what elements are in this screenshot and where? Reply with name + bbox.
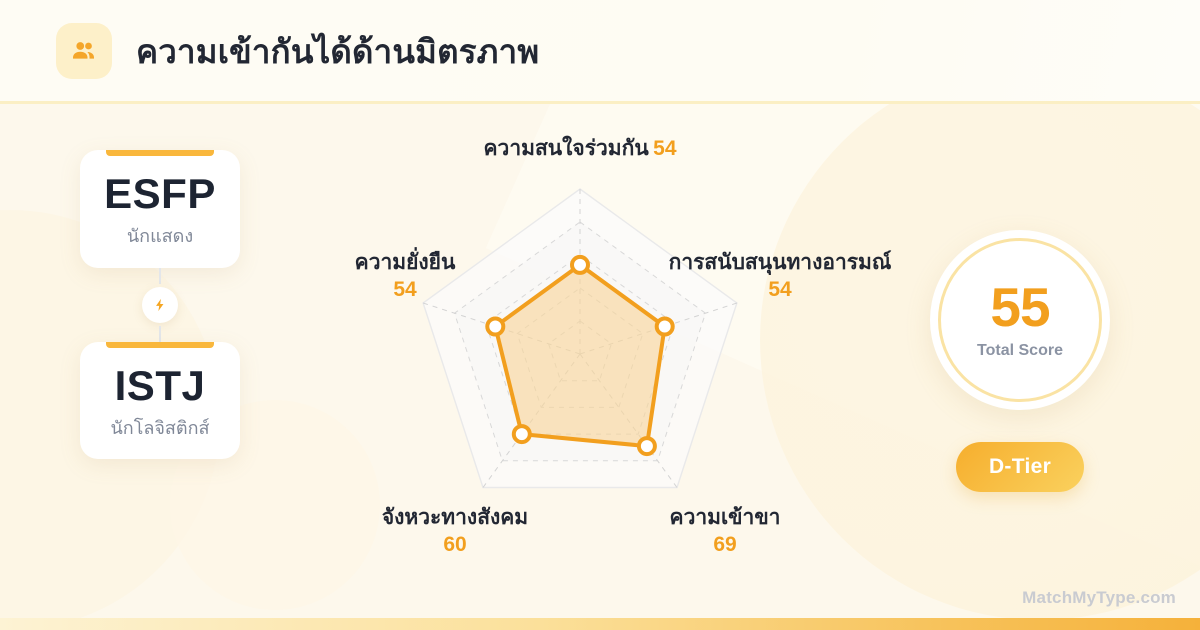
card-accent-bar — [106, 150, 214, 156]
personality-types-column: ESFP นักแสดง ISTJ นักโลจิสติกส์ — [80, 150, 240, 459]
axis-name-4: ความยั่งยืน — [290, 250, 520, 277]
axis-name-1: การสนับสนุนทางอารมณ์ — [630, 250, 930, 277]
type-role-second: นักโลจิสติกส์ — [90, 418, 230, 440]
people-group-icon — [56, 23, 112, 79]
score-block: 55 Total Score D-Tier — [920, 230, 1120, 492]
axis-value-4: 54 — [290, 277, 520, 304]
axis-value-2: 69 — [600, 532, 850, 559]
radar-point-2 — [639, 438, 655, 454]
infographic-canvas: ความเข้ากันได้ด้านมิตรภาพ ESFP นักแสดง I… — [0, 0, 1200, 630]
page-title: ความเข้ากันได้ด้านมิตรภาพ — [136, 25, 539, 78]
axis-label-3: จังหวะทางสังคม 60 — [330, 505, 580, 559]
connector-line-bottom — [159, 326, 161, 342]
total-score-value: 55 — [990, 280, 1049, 335]
types-connector — [80, 268, 240, 342]
axis-label-4: ความยั่งยืน 54 — [290, 250, 520, 304]
axis-name-2: ความเข้าขา — [600, 505, 850, 532]
lightning-bolt-icon — [142, 287, 178, 323]
axis-label-2: ความเข้าขา 69 — [600, 505, 850, 559]
axis-label-0: ความสนใจร่วมกัน 54 — [420, 136, 740, 163]
personality-card-first[interactable]: ESFP นักแสดง — [80, 150, 240, 268]
radar-point-1 — [657, 319, 673, 335]
radar-point-0 — [572, 257, 588, 273]
connector-line-top — [159, 268, 161, 284]
radar-chart: ความสนใจร่วมกัน 54 การสนับสนุนทางอารมณ์ … — [300, 110, 860, 610]
axis-value-3: 60 — [330, 532, 580, 559]
tier-badge: D-Tier — [956, 442, 1084, 492]
bottom-accent-bar — [0, 618, 1200, 630]
type-code-first: ESFP — [90, 172, 230, 216]
total-score-caption: Total Score — [977, 342, 1063, 360]
header-divider — [0, 101, 1200, 104]
radar-point-4 — [487, 319, 503, 335]
card-accent-bar — [106, 342, 214, 348]
axis-value-0: 54 — [653, 137, 676, 160]
type-role-first: นักแสดง — [90, 226, 230, 248]
site-watermark: MatchMyType.com — [1022, 588, 1176, 608]
type-code-second: ISTJ — [90, 364, 230, 408]
personality-card-second[interactable]: ISTJ นักโลจิสติกส์ — [80, 342, 240, 460]
axis-label-1: การสนับสนุนทางอารมณ์ 54 — [630, 250, 930, 304]
radar-point-3 — [514, 426, 530, 442]
axis-name-3: จังหวะทางสังคม — [330, 505, 580, 532]
total-score-circle: 55 Total Score — [930, 230, 1110, 410]
page-header: ความเข้ากันได้ด้านมิตรภาพ — [0, 0, 1200, 102]
axis-value-1: 54 — [630, 277, 930, 304]
axis-name-0: ความสนใจร่วมกัน — [483, 137, 648, 160]
